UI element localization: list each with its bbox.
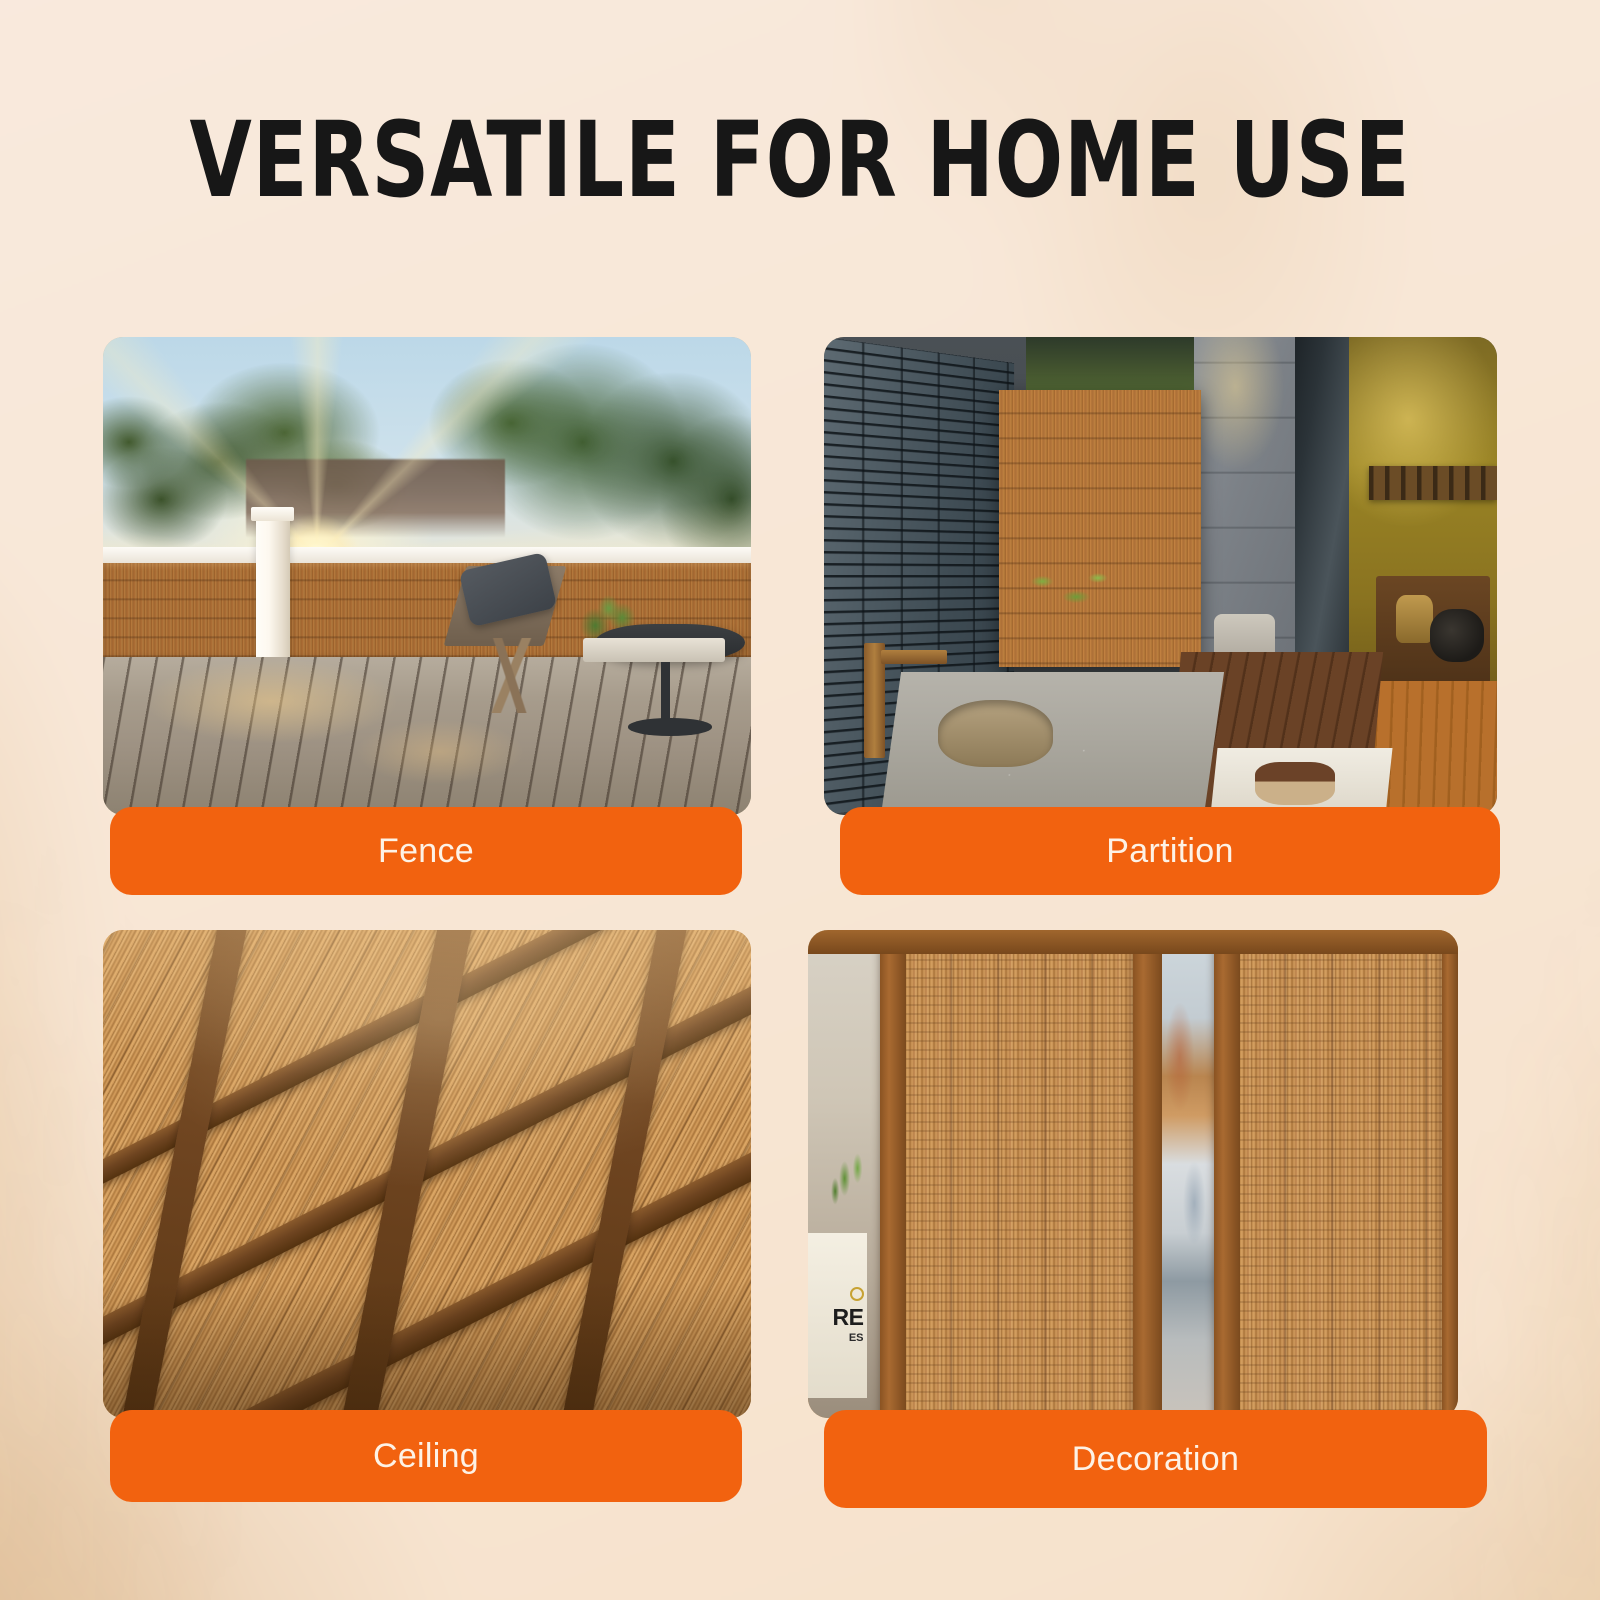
window-frame <box>880 930 906 1418</box>
window-frame <box>1214 930 1240 1418</box>
page-title: VERSATILE FOR HOME USE <box>112 108 1488 212</box>
partial-sign: RE ES <box>808 1233 867 1399</box>
promo-page: VERSATILE FOR HOME USE <box>0 0 1600 1600</box>
chair-legs <box>446 638 574 713</box>
photo-partition <box>824 337 1497 815</box>
caption-ceiling[interactable]: Ceiling <box>110 1410 742 1502</box>
window-frame <box>1442 930 1458 1418</box>
ceiling-lighting <box>103 930 751 1418</box>
balcony-plant <box>821 1115 880 1242</box>
slippers <box>1255 762 1336 805</box>
stone-water-basin <box>938 700 1052 767</box>
photo-fence <box>103 337 751 815</box>
table-stem <box>661 656 670 726</box>
reed-roller-blind <box>906 930 1134 1418</box>
fence-rail-cap <box>103 547 751 563</box>
table-base <box>628 718 711 735</box>
caption-decoration[interactable]: Decoration <box>824 1410 1487 1508</box>
caption-partition[interactable]: Partition <box>840 807 1500 895</box>
caption-fence[interactable]: Fence <box>110 807 742 895</box>
ceramic-jar <box>1396 595 1433 643</box>
photo-ceiling <box>103 930 751 1418</box>
frame-top-beam <box>808 930 1458 954</box>
maple-branch <box>1006 547 1127 633</box>
window-frame <box>1133 930 1162 1418</box>
photo-decoration: RE ES <box>808 930 1458 1418</box>
reed-roller-blind <box>1240 930 1442 1418</box>
gravel-bed <box>881 672 1224 815</box>
bamboo-water-spout <box>864 643 884 758</box>
iron-kettle <box>1430 609 1484 662</box>
sign-emblem-icon <box>850 1287 864 1301</box>
sign-line-2: ES <box>849 1333 864 1344</box>
lounge-chair <box>446 566 589 709</box>
window-opening <box>1162 930 1214 1418</box>
table-tray <box>583 638 726 662</box>
wall-shelf <box>1369 466 1497 499</box>
sign-line-1: RE <box>833 1306 864 1329</box>
